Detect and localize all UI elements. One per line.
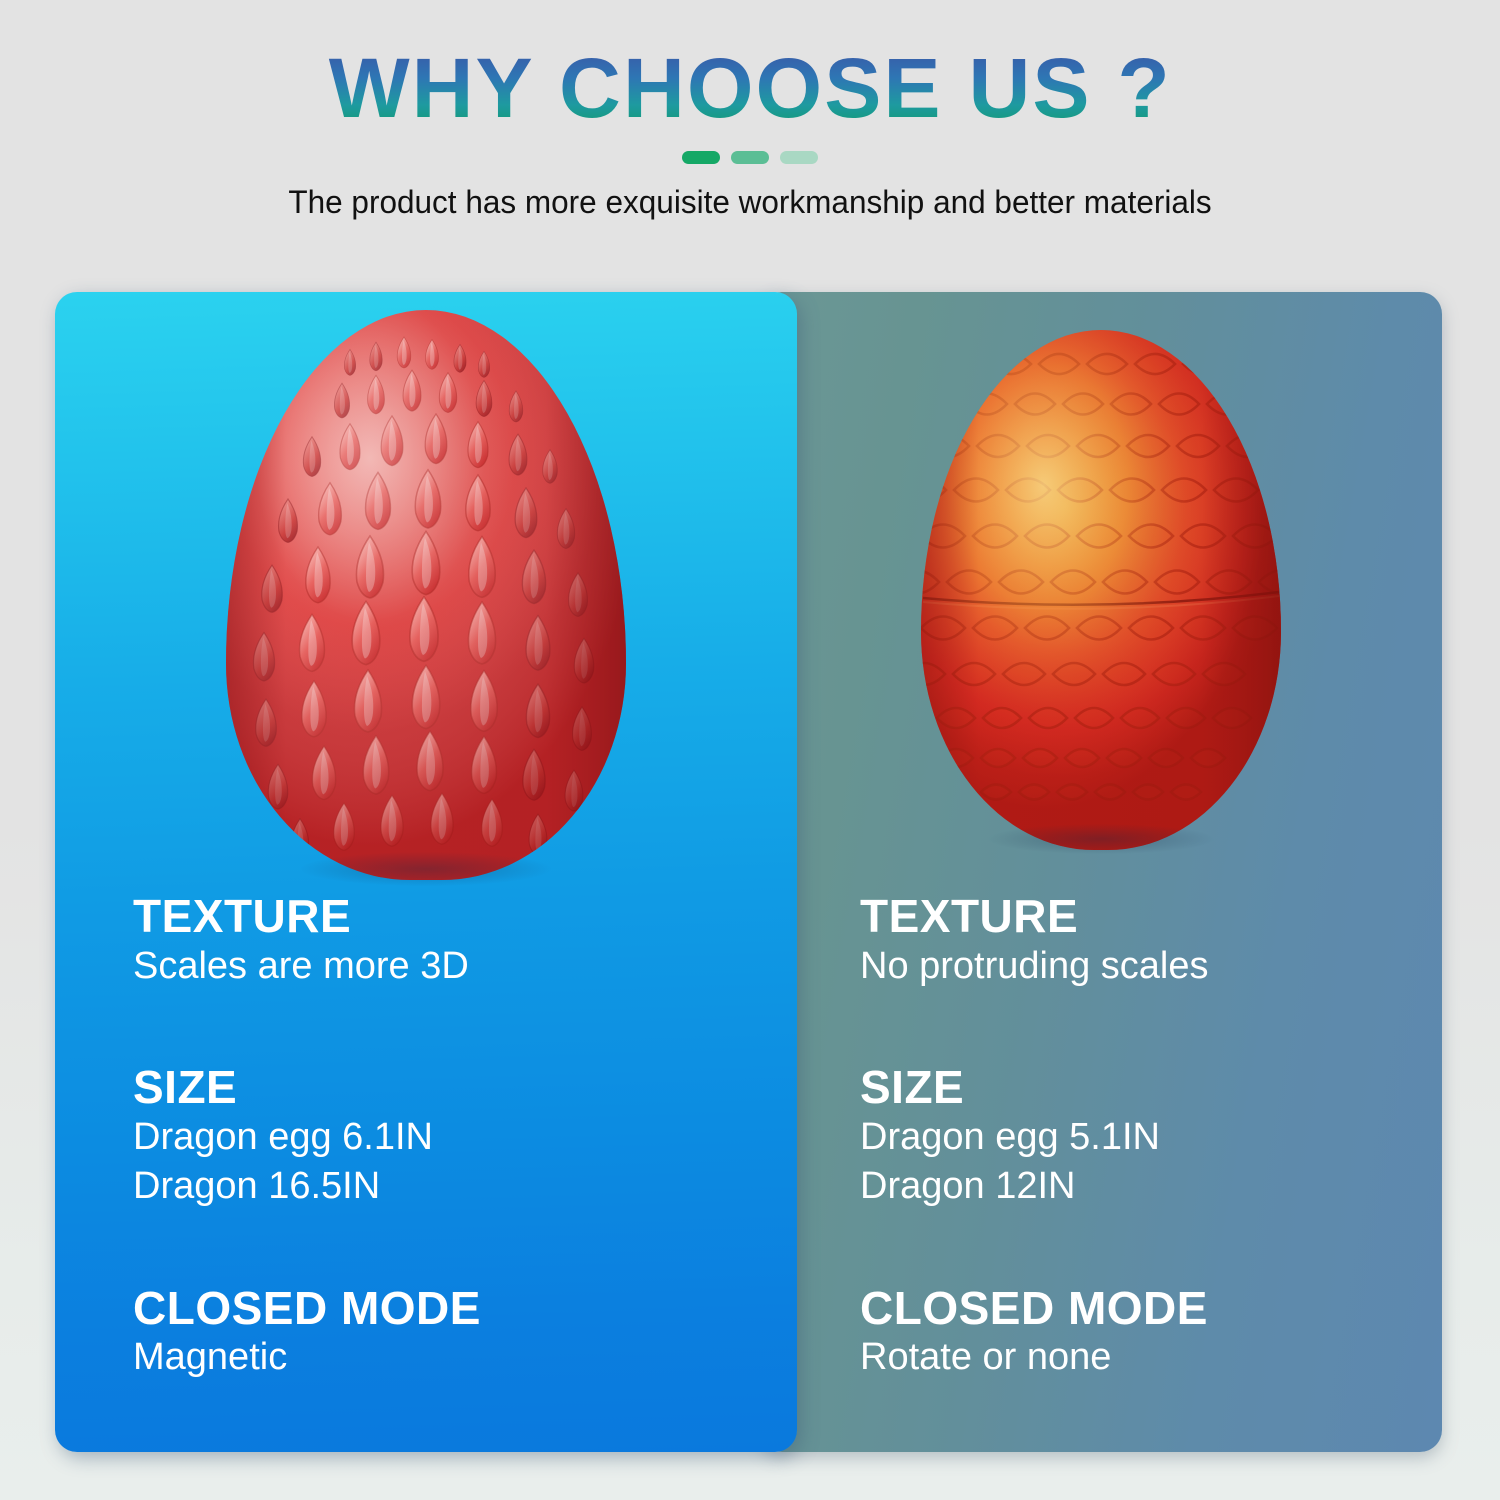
dash-divider [0,150,1500,164]
spec-value-texture: No protruding scales [860,942,1402,991]
spec-label-texture: TEXTURE [133,892,757,942]
comparison-cards: TEXTURE No protruding scales SIZE Dragon… [0,292,1500,1454]
spec-size: SIZE Dragon egg 6.1IN Dragon 16.5IN [133,1063,757,1211]
spec-size: SIZE Dragon egg 5.1IN Dragon 12IN [860,1063,1402,1211]
egg-scale-pattern [226,310,626,880]
spec-value-size-egg: Dragon egg 6.1IN [133,1113,757,1162]
divider-dash-2 [731,151,769,164]
spec-value-size-dragon: Dragon 12IN [860,1162,1402,1211]
spec-value-size-egg: Dragon egg 5.1IN [860,1113,1402,1162]
egg-surface [921,330,1281,850]
egg-surface [226,310,626,880]
spec-label-texture: TEXTURE [860,892,1402,942]
egg-drop-shadow [989,824,1214,854]
spec-texture: TEXTURE No protruding scales [860,892,1402,991]
spec-closed-mode: CLOSED MODE Magnetic [133,1284,757,1383]
page-subtitle: The product has more exquisite workmansh… [11,184,1489,221]
our-image-area [55,292,797,892]
page-header: WHY CHOOSE US ? The product has more exq… [0,0,1500,221]
spec-label-closed-mode: CLOSED MODE [133,1284,757,1334]
spec-closed-mode: CLOSED MODE Rotate or none [860,1284,1402,1383]
competitor-spec-list: TEXTURE No protruding scales SIZE Dragon… [760,892,1442,1383]
spec-label-closed-mode: CLOSED MODE [860,1284,1402,1334]
page-title: WHY CHOOSE US ? [328,46,1171,130]
spec-value-size-dragon: Dragon 16.5IN [133,1162,757,1211]
red-orange-dragon-egg-flat-scales-icon [921,330,1281,850]
spec-value-closed-mode: Magnetic [133,1333,757,1382]
red-dragon-egg-protruding-scales-icon [226,310,626,880]
competitor-image-area [760,292,1442,892]
spec-label-size: SIZE [860,1063,1402,1113]
divider-dash-3 [780,151,818,164]
our-product-card: TEXTURE Scales are more 3D SIZE Dragon e… [55,292,797,1452]
spec-value-texture: Scales are more 3D [133,942,757,991]
egg-scale-pattern [921,330,1281,850]
spec-value-closed-mode: Rotate or none [860,1333,1402,1382]
spec-label-size: SIZE [133,1063,757,1113]
divider-dash-1 [682,151,720,164]
our-spec-list: TEXTURE Scales are more 3D SIZE Dragon e… [55,892,797,1383]
competitor-product-card: TEXTURE No protruding scales SIZE Dragon… [760,292,1442,1452]
egg-drop-shadow [301,852,551,886]
spec-texture: TEXTURE Scales are more 3D [133,892,757,991]
